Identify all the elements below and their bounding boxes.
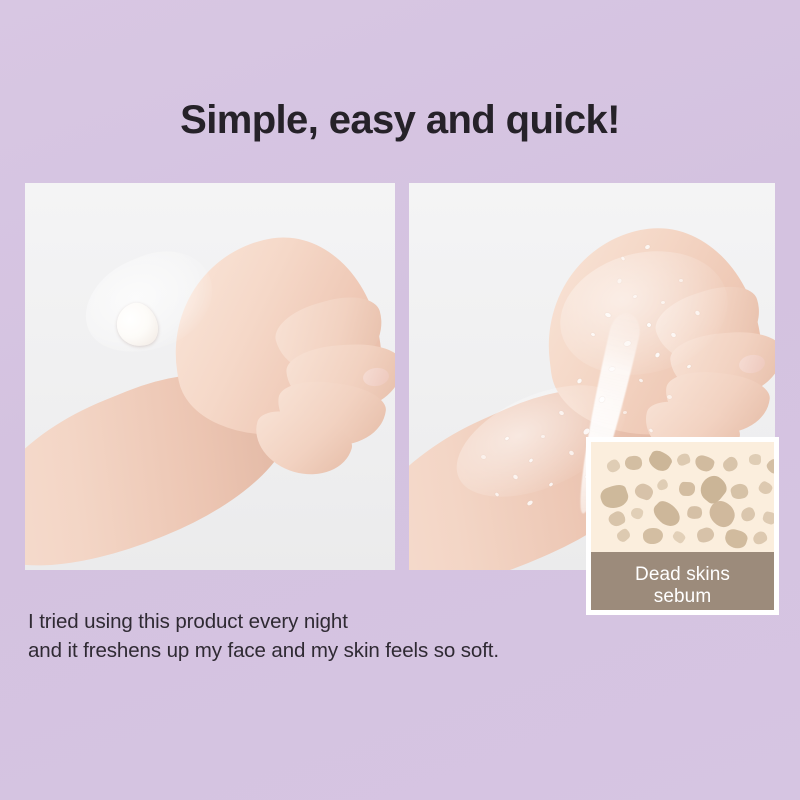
callout-label-line-2: sebum: [654, 586, 712, 607]
dead-skin-speck: [642, 527, 663, 544]
skin-texture-left: [25, 183, 395, 570]
dead-skin-speck: [671, 530, 687, 545]
skin-flake: [512, 474, 518, 480]
dead-skin-speck: [633, 482, 655, 502]
skin-flake: [661, 301, 665, 305]
dead-skin-speck: [655, 478, 670, 493]
skin-flake: [604, 312, 611, 318]
dead-skin-speck: [739, 506, 757, 524]
skin-flake: [687, 364, 692, 369]
dead-skin-speck: [729, 482, 749, 501]
dead-skin-speck: [679, 482, 695, 497]
dead-skin-speck: [598, 482, 631, 512]
skin-flake: [633, 294, 638, 298]
skin-flake: [667, 395, 673, 400]
skin-flake: [623, 411, 627, 414]
callout-label-band: Dead skins sebum: [591, 552, 774, 615]
dead-skin-speck: [630, 507, 643, 519]
promo-poster: Simple, easy and quick!: [0, 0, 800, 800]
skin-flake: [541, 435, 545, 438]
dead-skin-speck: [765, 457, 774, 476]
photo-before: [25, 183, 395, 570]
dead-skin-speck: [749, 454, 762, 466]
skin-flake: [549, 482, 554, 487]
dead-skin-speck: [751, 529, 769, 547]
skin-flake: [609, 366, 616, 371]
skin-flake: [649, 428, 654, 433]
skin-flake: [598, 396, 606, 404]
dead-skin-speck: [721, 455, 741, 475]
skin-flake: [654, 352, 660, 358]
skin-flake: [694, 310, 700, 316]
page-title: Simple, easy and quick!: [0, 98, 800, 142]
dead-skin-speck: [695, 526, 716, 545]
dead-skins-callout: Dead skins sebum: [586, 437, 779, 615]
skin-flake: [558, 410, 564, 416]
testimonial-caption: I tried using this product every night a…: [28, 607, 728, 665]
skin-flake: [623, 340, 631, 347]
skin-flake: [505, 436, 510, 441]
dead-skin-speck: [624, 455, 643, 471]
callout-label-line-1: Dead skins: [635, 564, 730, 585]
skin-flake: [639, 378, 644, 383]
dead-skin-speck: [607, 509, 628, 529]
skin-flake: [526, 500, 533, 507]
skin-flake: [621, 256, 626, 261]
callout-label: Dead skins sebum: [635, 564, 730, 609]
hand-with-cream-photo: [25, 183, 395, 570]
dead-skin-speck: [646, 448, 674, 474]
dead-skin-speck: [723, 527, 749, 551]
skin-flake: [568, 450, 574, 456]
skin-flake: [495, 492, 500, 497]
skin-flake: [670, 332, 676, 338]
dead-skin-speck: [762, 511, 774, 525]
skin-flake: [481, 455, 487, 460]
skin-flake: [646, 322, 652, 328]
dead-skin-speck: [675, 452, 691, 467]
dead-skin-speck: [650, 497, 684, 531]
dead-skin-speck: [686, 505, 703, 520]
skin-flake: [529, 458, 534, 463]
skin-flake: [591, 332, 596, 336]
skin-flake: [679, 279, 683, 282]
dead-skin-speck: [615, 527, 632, 544]
skin-flake: [582, 427, 590, 435]
dead-skin-speck: [757, 480, 774, 496]
skin-flake: [617, 278, 623, 284]
dead-skin-speck: [694, 454, 716, 473]
skin-flake: [576, 378, 582, 384]
dead-skin-flakes-swatch: [591, 442, 774, 552]
dead-skin-speck: [605, 457, 623, 475]
skin-flake: [644, 244, 650, 250]
